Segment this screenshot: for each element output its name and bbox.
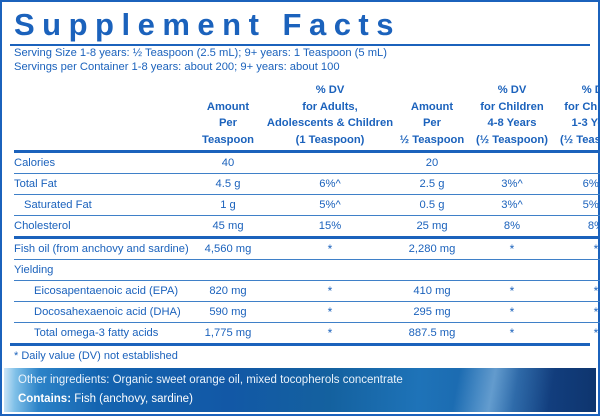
- header-name-l2: [14, 101, 190, 118]
- row-dv-adults: *: [266, 302, 394, 323]
- header-col2-l4: (1 Teaspoon): [266, 134, 394, 152]
- table-row-saturated-fat: Saturated Fat 1 g 5%^ 0.5 g 3%^ 5%^^: [14, 195, 600, 216]
- row-amount-per-tsp: 45 mg: [190, 216, 266, 238]
- row-amount-per-tsp: 40: [190, 152, 266, 174]
- header-col4-l4: (½ Teaspoon): [470, 134, 554, 152]
- row-dv-children-4-8: [470, 152, 554, 174]
- header-col4-l1: % DV: [470, 84, 554, 101]
- row-amount-per-half-tsp: 25 mg: [394, 216, 470, 238]
- row-label: Eicosapentaenoic acid (EPA): [14, 281, 190, 302]
- row-dv-children-4-8: 3%^: [470, 195, 554, 216]
- supplement-facts-label: Supplement Facts Serving Size 1-8 years:…: [0, 0, 600, 416]
- row-dv-adults: *: [266, 238, 394, 260]
- table-header: % DV % DV % DV Amount for Adults, Amount…: [14, 74, 600, 152]
- row-amount-per-tsp: 4.5 g: [190, 174, 266, 195]
- row-dv-children-4-8: [470, 260, 554, 281]
- table-row-calories: Calories 40 20: [14, 152, 600, 174]
- row-dv-children-1-3: *: [554, 323, 600, 344]
- header-name-l3: [14, 117, 190, 134]
- row-amount-per-tsp: [190, 260, 266, 281]
- servings-per-container-text: Servings per Container 1-8 years: about …: [10, 60, 590, 74]
- header-col4-l3: 4-8 Years: [470, 117, 554, 134]
- row-label: Cholesterol: [14, 216, 190, 238]
- row-label: Total omega-3 fatty acids: [14, 323, 190, 344]
- table-row-epa: Eicosapentaenoic acid (EPA) 820 mg * 410…: [14, 281, 600, 302]
- row-dv-adults: *: [266, 323, 394, 344]
- header-col5-l4: (½ Teaspoon): [554, 134, 600, 152]
- contains-value: Fish (anchovy, sardine): [74, 393, 193, 405]
- row-dv-children-1-3: 8%: [554, 216, 600, 238]
- row-amount-per-half-tsp: 887.5 mg: [394, 323, 470, 344]
- row-amount-per-half-tsp: 0.5 g: [394, 195, 470, 216]
- row-amount-per-half-tsp: 295 mg: [394, 302, 470, 323]
- header-line-3: Per Adolescents & Children Per 4-8 Years…: [14, 117, 600, 134]
- contains-label: Contains:: [18, 393, 71, 405]
- header-col1-l1: [190, 84, 266, 101]
- row-dv-children-4-8: 3%^: [470, 174, 554, 195]
- row-label: Saturated Fat: [14, 195, 190, 216]
- row-dv-children-1-3: [554, 152, 600, 174]
- nutrition-table: % DV % DV % DV Amount for Adults, Amount…: [14, 74, 600, 343]
- table-row-fish-oil: Fish oil (from anchovy and sardine) 4,56…: [14, 238, 600, 260]
- header-col2-l3: Adolescents & Children: [266, 117, 394, 134]
- row-amount-per-tsp: 820 mg: [190, 281, 266, 302]
- row-dv-children-1-3: *: [554, 281, 600, 302]
- row-amount-per-half-tsp: [394, 260, 470, 281]
- row-amount-per-tsp: 590 mg: [190, 302, 266, 323]
- header-col2-l1: % DV: [266, 84, 394, 101]
- row-dv-adults: [266, 260, 394, 281]
- row-amount-per-tsp: 1,775 mg: [190, 323, 266, 344]
- row-label: Yielding: [14, 260, 190, 281]
- header-col5-l3: 1-3 Years: [554, 117, 600, 134]
- header-col3-l3: Per: [394, 117, 470, 134]
- row-dv-children-4-8: *: [470, 238, 554, 260]
- row-amount-per-half-tsp: 2.5 g: [394, 174, 470, 195]
- row-dv-children-1-3: *: [554, 238, 600, 260]
- row-dv-adults: *: [266, 281, 394, 302]
- table-row-yielding: Yielding: [14, 260, 600, 281]
- row-amount-per-half-tsp: 410 mg: [394, 281, 470, 302]
- row-dv-children-1-3: 6%^^: [554, 174, 600, 195]
- row-amount-per-tsp: 4,560 mg: [190, 238, 266, 260]
- serving-size-text: Serving Size 1-8 years: ½ Teaspoon (2.5 …: [10, 46, 590, 60]
- row-dv-children-4-8: *: [470, 323, 554, 344]
- page-title: Supplement Facts: [10, 2, 590, 44]
- row-amount-per-half-tsp: 2,280 mg: [394, 238, 470, 260]
- row-label: Docosahexaenoic acid (DHA): [14, 302, 190, 323]
- row-amount-per-tsp: 1 g: [190, 195, 266, 216]
- header-line-2: Amount for Adults, Amount for Children f…: [14, 101, 600, 118]
- table-body: Calories 40 20 Total Fat 4.5 g 6%^ 2.5 g…: [14, 152, 600, 344]
- header-col1-l2: Amount: [190, 101, 266, 118]
- other-ingredients-text: Other ingredients: Organic sweet orange …: [18, 374, 403, 386]
- header-col3-l1: [394, 84, 470, 101]
- header-spacer: [14, 74, 600, 84]
- row-dv-children-1-3: 5%^^: [554, 195, 600, 216]
- row-dv-children-4-8: *: [470, 281, 554, 302]
- header-col3-l4: ½ Teaspoon: [394, 134, 470, 152]
- footnote-daily-value: * Daily value (DV) not established: [10, 346, 590, 364]
- row-label: Total Fat: [14, 174, 190, 195]
- table-row-cholesterol: Cholesterol 45 mg 15% 25 mg 8% 8%: [14, 216, 600, 238]
- header-col3-l2: Amount: [394, 101, 470, 118]
- header-col2-l2: for Adults,: [266, 101, 394, 118]
- row-amount-per-half-tsp: 20: [394, 152, 470, 174]
- label-body: Supplement Facts Serving Size 1-8 years:…: [2, 2, 598, 399]
- header-name-l4: [14, 134, 190, 152]
- row-label: Fish oil (from anchovy and sardine): [14, 238, 190, 260]
- header-line-4: Teaspoon (1 Teaspoon) ½ Teaspoon (½ Teas…: [14, 134, 600, 152]
- header-line-1: % DV % DV % DV: [14, 84, 600, 101]
- header-col5-l1: % DV: [554, 84, 600, 101]
- row-dv-children-1-3: *: [554, 302, 600, 323]
- ingredients-band: Other ingredients: Organic sweet orange …: [4, 368, 596, 412]
- row-dv-adults: [266, 152, 394, 174]
- contains-allergens-row: Contains: Fish (anchovy, sardine): [18, 393, 193, 405]
- header-col5-l2: for Children: [554, 101, 600, 118]
- row-dv-children-4-8: 8%: [470, 216, 554, 238]
- row-dv-adults: 15%: [266, 216, 394, 238]
- row-dv-adults: 5%^: [266, 195, 394, 216]
- row-dv-children-1-3: [554, 260, 600, 281]
- row-dv-children-4-8: *: [470, 302, 554, 323]
- table-row-total-omega-3: Total omega-3 fatty acids 1,775 mg * 887…: [14, 323, 600, 344]
- table-row-dha: Docosahexaenoic acid (DHA) 590 mg * 295 …: [14, 302, 600, 323]
- table-row-total-fat: Total Fat 4.5 g 6%^ 2.5 g 3%^ 6%^^: [14, 174, 600, 195]
- header-name-l1: [14, 84, 190, 101]
- header-col1-l3: Per: [190, 117, 266, 134]
- row-label: Calories: [14, 152, 190, 174]
- row-dv-adults: 6%^: [266, 174, 394, 195]
- header-col1-l4: Teaspoon: [190, 134, 266, 152]
- header-col4-l2: for Children: [470, 101, 554, 118]
